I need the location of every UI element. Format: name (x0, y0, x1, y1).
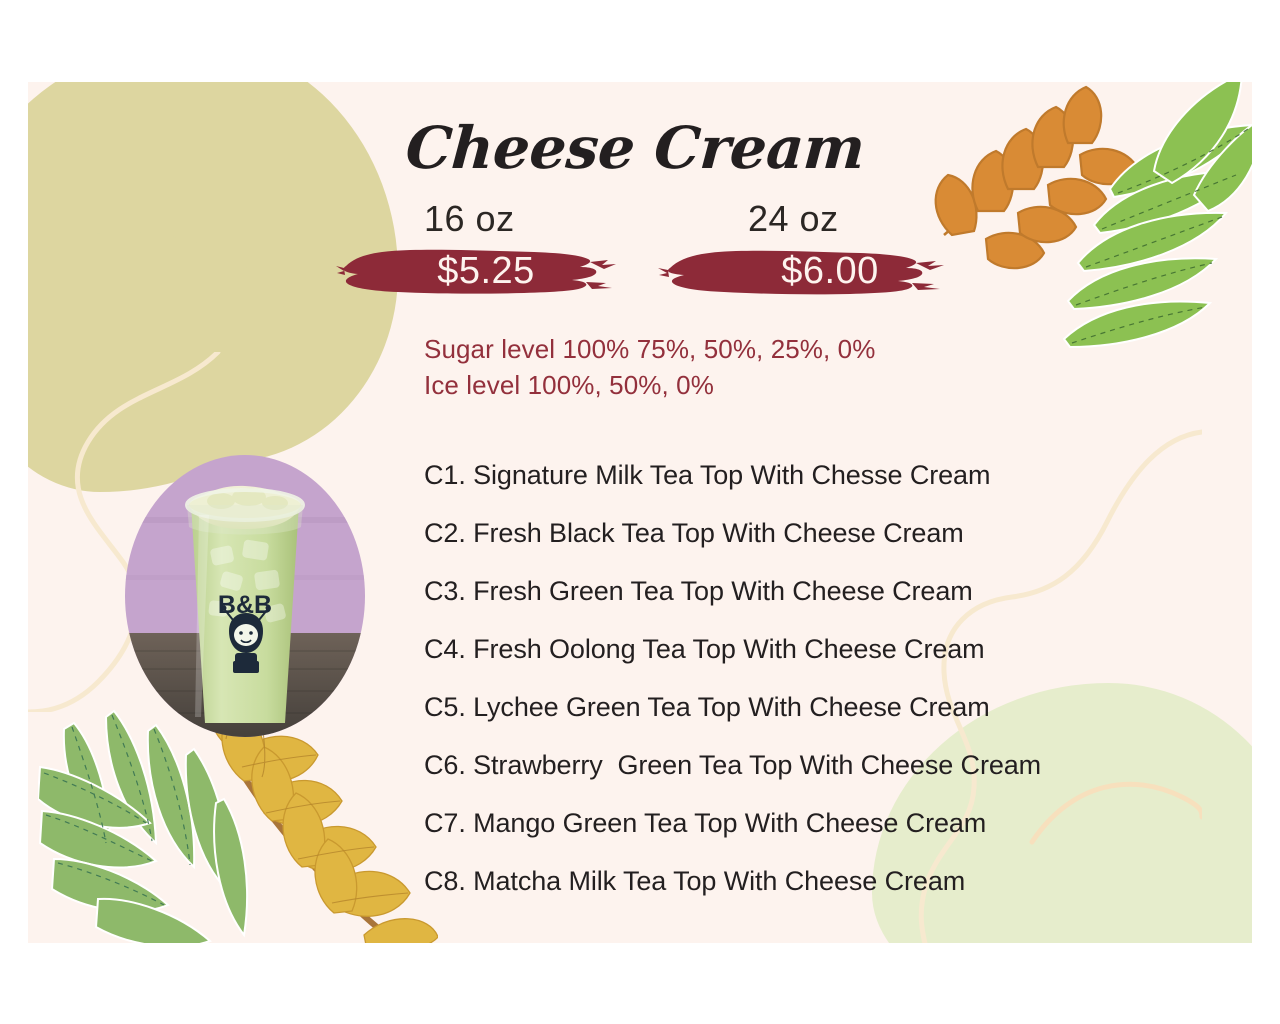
size-label-16oz: 16 oz (424, 198, 515, 240)
price-badge-24oz: $6.00 (656, 242, 956, 302)
menu-item-list: C1. Signature Milk Tea Top With Chesse C… (424, 446, 1041, 910)
menu-item[interactable]: C3. Fresh Green Tea Top With Cheese Crea… (424, 562, 1041, 620)
size-label-24oz: 24 oz (748, 198, 839, 240)
customization-options: Sugar level 100% 75%, 50%, 25%, 0% Ice l… (424, 332, 875, 404)
menu-card: B&B Cheese (28, 82, 1252, 943)
menu-item[interactable]: C2. Fresh Black Tea Top With Cheese Crea… (424, 504, 1041, 562)
menu-canvas: B&B Cheese (0, 0, 1280, 1024)
menu-item[interactable]: C1. Signature Milk Tea Top With Chesse C… (424, 446, 1041, 504)
sugar-level-text: Sugar level 100% 75%, 50%, 25%, 0% (424, 332, 875, 368)
price-badge-16oz: $5.25 (336, 242, 636, 302)
ice-level-text: Ice level 100%, 50%, 0% (424, 368, 875, 404)
price-value-16oz: $5.25 (336, 250, 680, 293)
price-value-24oz: $6.00 (656, 250, 980, 293)
menu-item[interactable]: C5. Lychee Green Tea Top With Cheese Cre… (424, 678, 1041, 736)
size-labels-row: 16 oz 24 oz (414, 198, 994, 234)
menu-item[interactable]: C6. Strawberry Green Tea Top With Cheese… (424, 736, 1041, 794)
matcha-cheese-cream-drink-image: B&B (125, 455, 365, 737)
menu-item[interactable]: C8. Matcha Milk Tea Top With Cheese Crea… (424, 852, 1041, 910)
menu-item[interactable]: C4. Fresh Oolong Tea Top With Cheese Cre… (424, 620, 1041, 678)
menu-item[interactable]: C7. Mango Green Tea Top With Cheese Crea… (424, 794, 1041, 852)
price-row: $5.25 $6.00 (336, 242, 956, 304)
page-title: Cheese Cream (404, 114, 867, 182)
drink-photo: B&B (125, 455, 365, 737)
